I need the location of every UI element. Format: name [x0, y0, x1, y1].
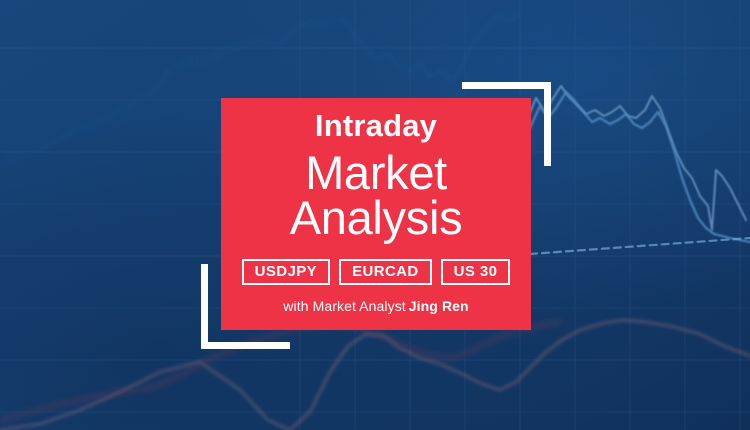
ticker-chip-us30[interactable]: US 30	[441, 259, 511, 285]
page-title-line2: Analysis	[290, 195, 463, 241]
banner-canvas: Intraday Market Analysis USDJPY EURCAD U…	[0, 0, 750, 430]
bracket-top-right-horizontal	[462, 82, 551, 89]
ticker-chip-eurcad[interactable]: EURCAD	[339, 259, 432, 285]
analyst-name: Jing Ren	[409, 298, 469, 314]
eyebrow-intraday: Intraday	[315, 110, 437, 143]
page-title-line1: Market	[305, 150, 447, 196]
chart-series-dashed-trend	[530, 238, 750, 254]
chart-series-bottom-left-crimson	[0, 322, 560, 420]
chart-series-upper-right-haze	[540, 0, 750, 96]
chart-series-mid-smooth-mauve	[0, 320, 750, 430]
bracket-top-right-vertical	[544, 82, 551, 166]
bracket-bottom-left-horizontal	[201, 342, 290, 349]
chart-series-right-declining-pale	[527, 86, 746, 230]
title-card-content: Intraday Market Analysis USDJPY EURCAD U…	[221, 98, 531, 330]
ticker-chip-usdjpy[interactable]: USDJPY	[242, 259, 330, 285]
title-card: Intraday Market Analysis USDJPY EURCAD U…	[221, 98, 531, 330]
byline: with Market AnalystJing Ren	[283, 298, 468, 314]
byline-prefix: with Market Analyst	[283, 298, 406, 314]
ticker-list: USDJPY EURCAD US 30	[242, 259, 511, 285]
bracket-bottom-left-vertical	[201, 264, 208, 349]
